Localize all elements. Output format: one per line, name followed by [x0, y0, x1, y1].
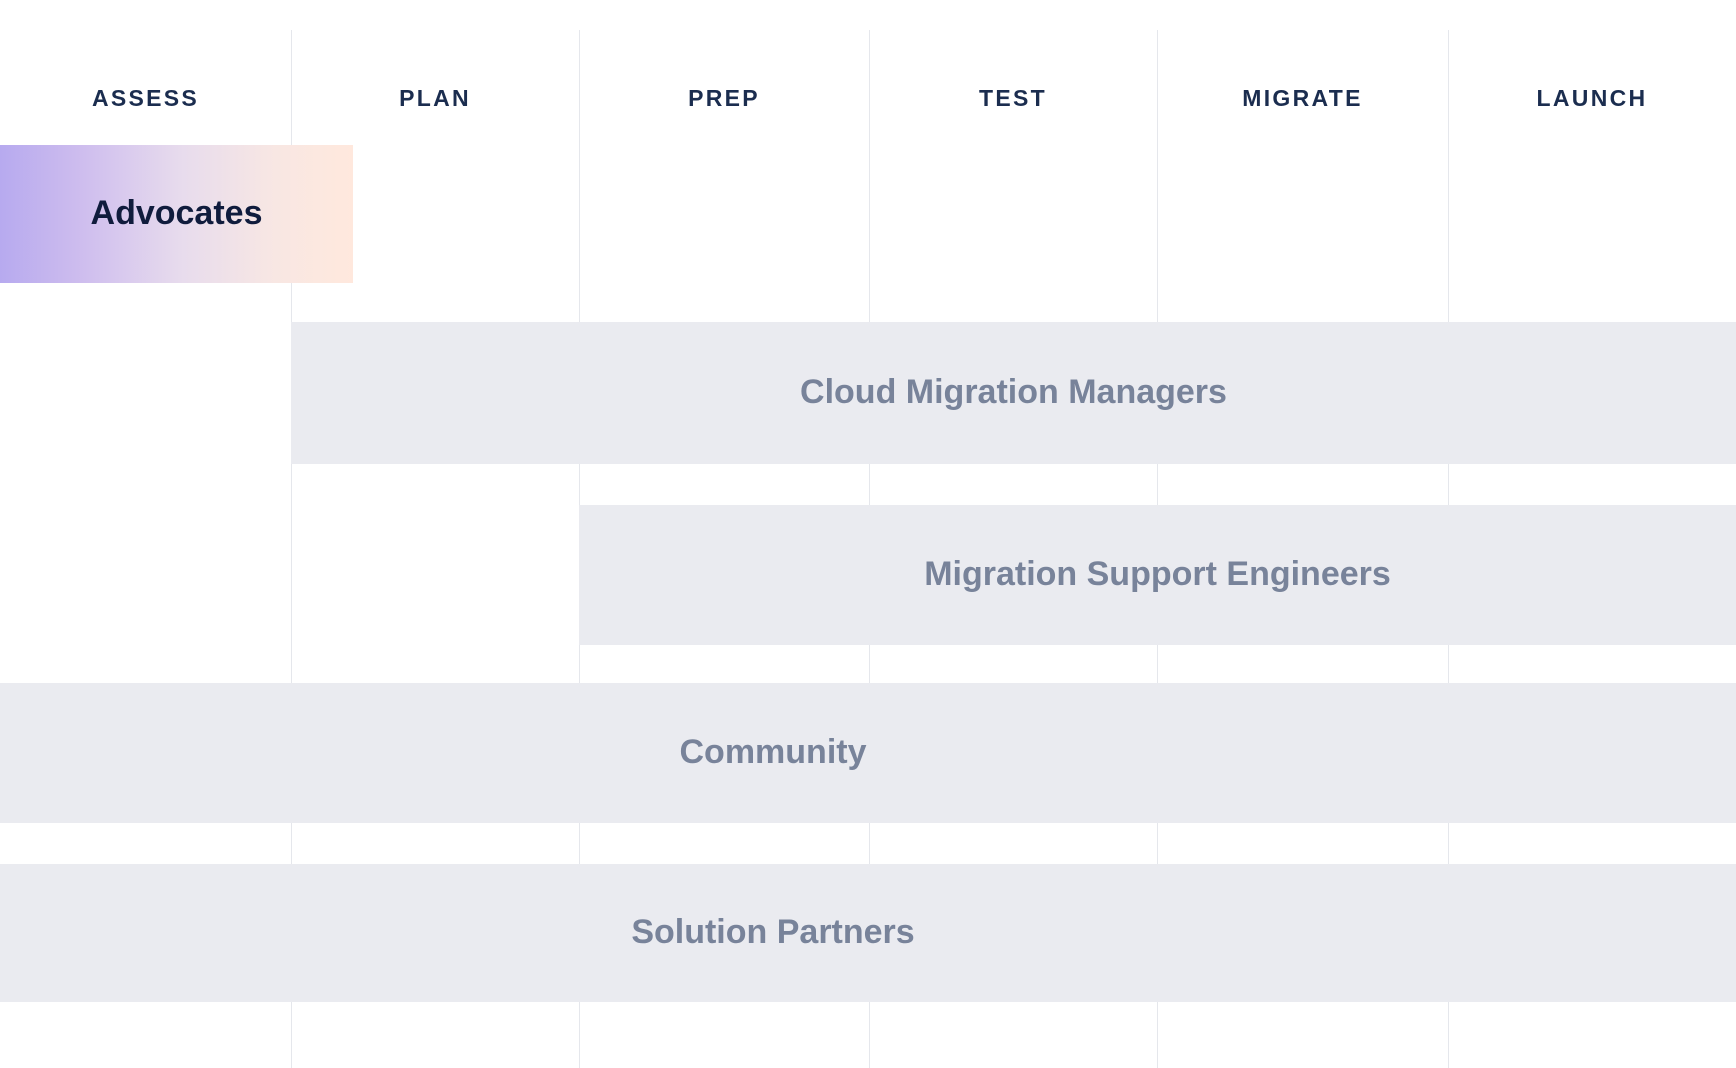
band-cloud-migration-managers-label: Cloud Migration Managers	[800, 374, 1227, 411]
column-header-test[interactable]: TEST	[869, 0, 1157, 145]
band-migration-support-engineers-label: Migration Support Engineers	[924, 556, 1391, 593]
band-community[interactable]: Community	[0, 683, 1736, 823]
band-solution-partners[interactable]: Solution Partners	[0, 864, 1736, 1002]
band-advocates[interactable]: Advocates	[0, 145, 353, 283]
band-community-label: Community	[680, 734, 867, 771]
column-header-plan[interactable]: PLAN	[291, 0, 579, 145]
stage-header-row: ASSESS PLAN PREP TEST MIGRATE LAUNCH	[0, 0, 1736, 145]
band-advocates-label: Advocates	[91, 195, 263, 232]
column-header-plan-label: PLAN	[399, 87, 471, 110]
column-header-migrate[interactable]: MIGRATE	[1157, 0, 1448, 145]
migration-support-matrix: ASSESS PLAN PREP TEST MIGRATE LAUNCH Adv…	[0, 0, 1736, 1068]
column-header-launch[interactable]: LAUNCH	[1448, 0, 1736, 145]
column-header-assess[interactable]: ASSESS	[0, 0, 291, 145]
column-header-assess-label: ASSESS	[92, 87, 199, 110]
column-header-prep[interactable]: PREP	[579, 0, 869, 145]
column-header-migrate-label: MIGRATE	[1242, 87, 1362, 110]
column-header-launch-label: LAUNCH	[1537, 87, 1648, 110]
band-cloud-migration-managers[interactable]: Cloud Migration Managers	[291, 322, 1736, 464]
column-header-prep-label: PREP	[688, 87, 760, 110]
band-solution-partners-label: Solution Partners	[631, 914, 914, 951]
column-header-test-label: TEST	[979, 87, 1047, 110]
band-migration-support-engineers[interactable]: Migration Support Engineers	[579, 505, 1736, 645]
